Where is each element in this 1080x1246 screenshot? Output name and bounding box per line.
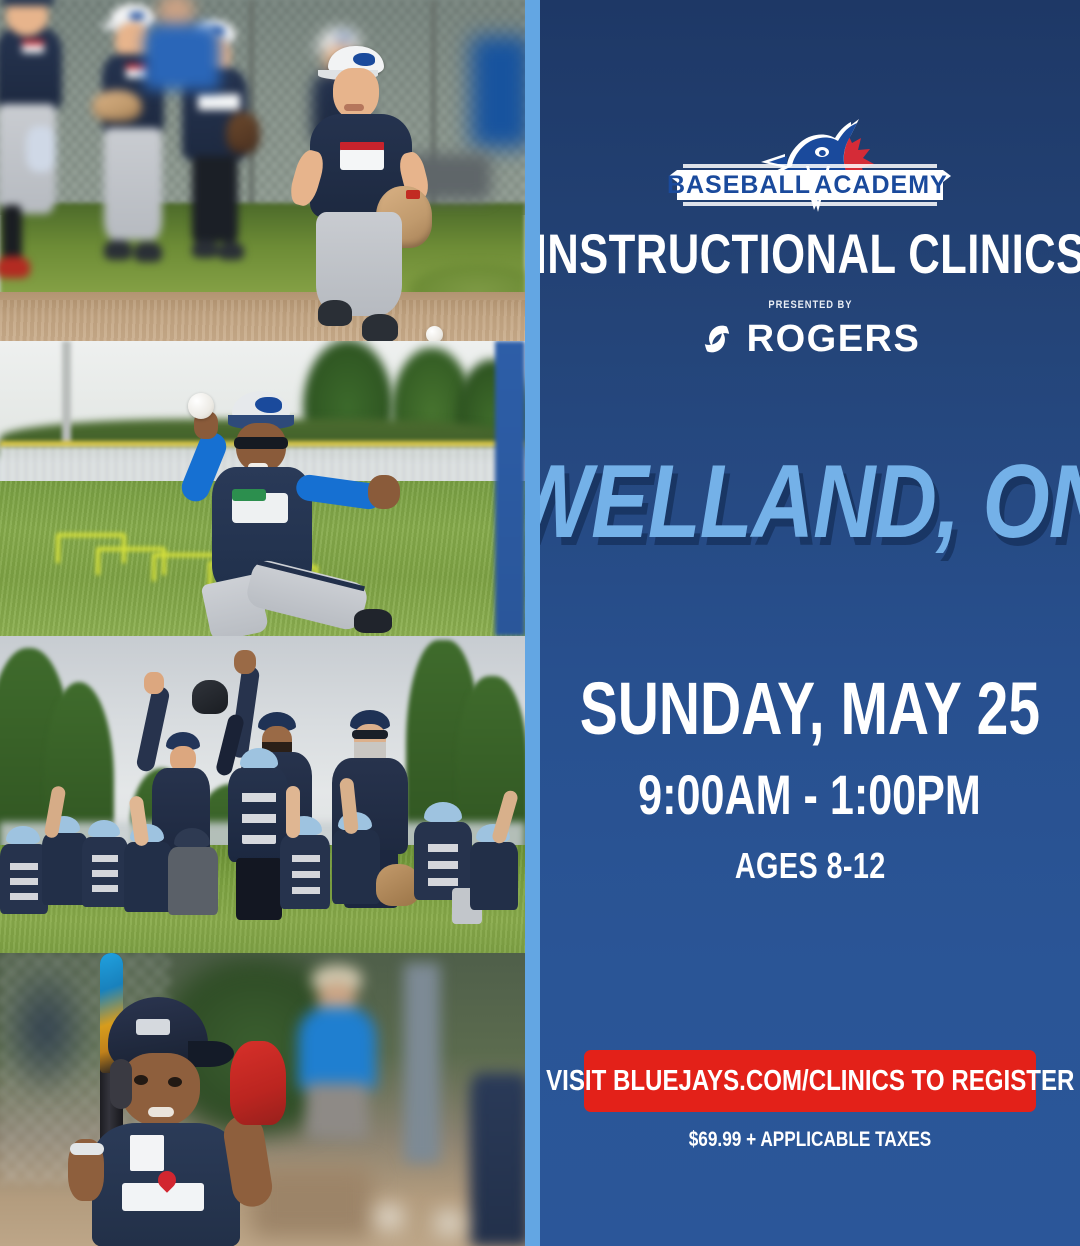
- photo3-kid-standing: [228, 748, 288, 924]
- price-note: $69.99 + APPLICABLE TAXES: [689, 1129, 932, 1150]
- svg-text:BASEBALL: BASEBALL: [667, 171, 811, 199]
- rogers-swirl-icon: [700, 322, 734, 356]
- blue-jays-baseball-academy-logo: BASEBALL ACADEMY: [665, 108, 955, 216]
- register-button-label: VISIT BLUEJAYS.COM/CLINICS TO REGISTER: [546, 1067, 1074, 1096]
- photo4-fence-post: [404, 963, 440, 1163]
- photo4-name-tag: [130, 1135, 164, 1171]
- info-panel: BASEBALL ACADEMY INSTRUCTIONAL CLINICS P…: [540, 0, 1080, 1246]
- photo2-cleat: [354, 609, 392, 633]
- photo4-baseball: [376, 1205, 402, 1229]
- accent-divider: [525, 0, 540, 1246]
- photo1-running-player: [288, 42, 448, 332]
- photo3-kid-cap: [240, 748, 278, 770]
- photo3-kneeling-kids-right: [280, 802, 525, 922]
- sponsor-logo: ROGERS: [700, 320, 921, 358]
- photo-kids-running-infield: [0, 0, 525, 341]
- event-time: 9:00AM - 1:00PM: [639, 767, 982, 823]
- event-city: WELLAND, ON: [540, 450, 1080, 554]
- photo4-batter: [60, 997, 320, 1246]
- photo3-kneeling-kids-left: [0, 802, 228, 920]
- photo-kid-throwing-ball: [0, 341, 525, 636]
- register-button[interactable]: VISIT BLUEJAYS.COM/CLINICS TO REGISTER: [584, 1050, 1036, 1112]
- photo2-baseball: [188, 393, 214, 419]
- photo4-chin-strap: [110, 1059, 132, 1109]
- photo4-baseball: [436, 1211, 462, 1235]
- photo-team-group-hands-up: [0, 636, 525, 953]
- presented-by-label: PRESENTED BY: [768, 299, 852, 311]
- clinic-poster: BASEBALL ACADEMY INSTRUCTIONAL CLINICS P…: [0, 0, 1080, 1246]
- photo4-batting-glove: [230, 1041, 286, 1125]
- photo3-shirt-text: [242, 782, 276, 844]
- svg-text:ACADEMY: ACADEMY: [814, 171, 947, 199]
- photo-collage: [0, 0, 525, 1246]
- photo3-sunglasses: [352, 730, 388, 739]
- photo4-helmet-logo: [136, 1019, 170, 1035]
- sponsor-name: ROGERS: [747, 320, 921, 358]
- event-date: SUNDAY, MAY 25: [580, 672, 1040, 746]
- photo4-eye: [168, 1077, 182, 1087]
- photo2-light-pole: [62, 341, 71, 445]
- photo4-smile: [148, 1107, 174, 1117]
- photo1-mouth: [344, 104, 364, 111]
- event-ages: AGES 8-12: [735, 848, 886, 884]
- page-title: INSTRUCTIONAL CLINICS: [540, 226, 1080, 282]
- photo4-helmet-brim: [188, 1041, 234, 1067]
- photo1-background-player: [0, 0, 68, 290]
- photo2-field-banner: [495, 341, 525, 636]
- photo4-eye: [134, 1075, 148, 1085]
- photo1-background-adult: [144, 0, 222, 104]
- photo3-raised-glove: [192, 680, 228, 714]
- photo1-equipment-bag: [471, 36, 525, 148]
- photo4-wristband: [70, 1143, 104, 1155]
- photo1-baseball: [426, 326, 443, 341]
- photo2-throwing-player: [128, 375, 348, 636]
- photo4-background-player: [470, 1073, 525, 1246]
- photo-young-batter: [0, 953, 525, 1246]
- photo2-glasses: [234, 437, 288, 449]
